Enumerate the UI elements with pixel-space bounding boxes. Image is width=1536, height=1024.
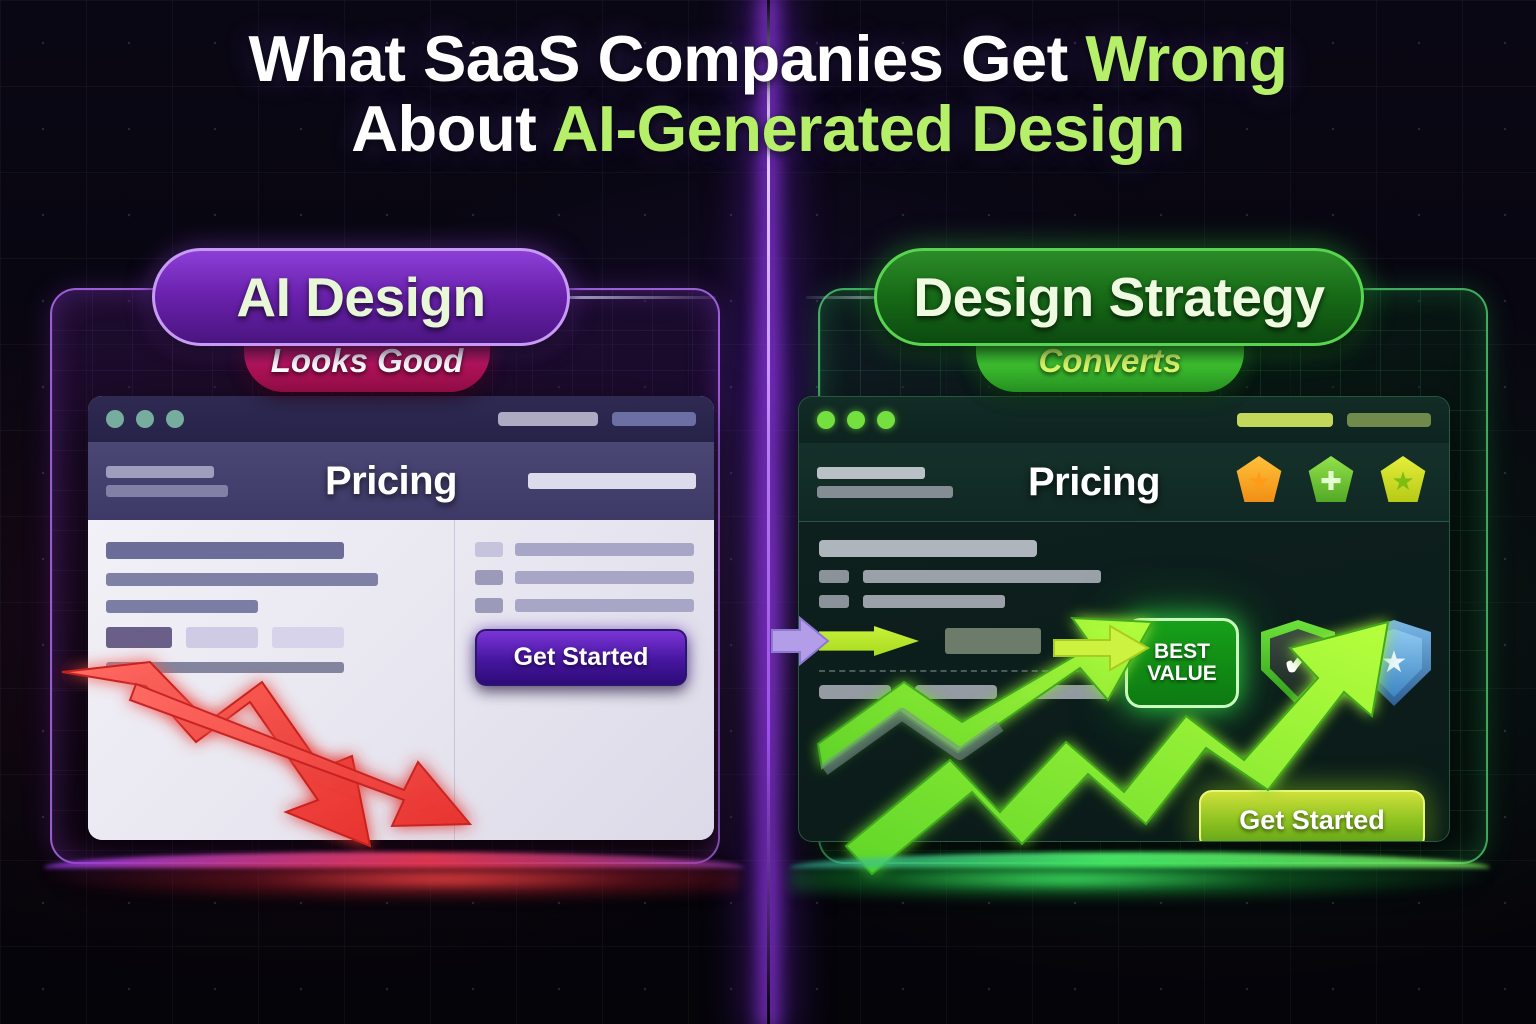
left-get-started-label: Get Started [514,643,649,672]
plus-icon: ✚ [1320,468,1342,494]
left-mockup-body: Get Started [88,520,714,840]
right-mockup-titlebar-bars [1237,413,1431,427]
shield-inner: ★ [1366,629,1422,697]
placeholder-bar [863,595,1005,608]
left-browser-mockup: Pricing [88,396,714,840]
header-bar [106,485,228,497]
titlebar-bar [1347,413,1431,427]
titlebar-bar [1237,413,1333,427]
left-mockup-titlebar-bars [498,412,696,426]
placeholder-bar [819,540,1037,557]
placeholder-bar [106,542,344,559]
check-shield-green-icon: ✔ [1261,620,1335,706]
footer-pill [819,685,891,699]
list-item [819,595,1429,608]
left-mockup-left-column [88,520,454,840]
bullet-square-icon [475,542,503,557]
placeholder-bar [106,662,344,673]
highlight-marker-icon [819,626,919,656]
left-mockup-header-bars [106,466,256,497]
section-divider [819,670,1139,673]
header-bar [106,466,214,478]
left-title-pill: AI Design [152,248,570,346]
window-minimize-dot-icon[interactable] [847,411,865,429]
placeholder-bar [515,571,694,584]
left-get-started-button[interactable]: Get Started [475,629,687,686]
footer-pill [915,685,997,699]
window-maximize-dot-icon[interactable] [166,410,184,428]
header-bar [528,473,696,489]
star-icon: ★ [1391,468,1414,494]
star-badge-lime-icon: ★ [1377,456,1429,506]
trust-badge-row: BEST VALUE ✔ ★ [1125,618,1431,708]
best-value-line1: BEST [1154,641,1210,663]
right-mockup-body: ★ ✚ ★ [799,522,1449,842]
header-bar [817,486,953,498]
list-item [475,570,694,585]
best-value-badge: BEST VALUE [1125,618,1239,708]
headline-line2-green: AI-Generated Design [551,92,1184,165]
best-value-line2: VALUE [1147,663,1217,685]
header-bar [817,467,925,479]
check-icon: ✔ [1283,645,1313,681]
placeholder-bar [945,628,1041,654]
right-browser-mockup: Pricing ★ ✚ ★ [798,396,1450,842]
right-get-started-button[interactable]: Get Started [1199,790,1425,842]
list-item [475,542,694,557]
left-mockup-chip-row [106,627,436,648]
titlebar-bar [612,412,696,426]
right-get-started-label: Get Started [1239,805,1385,836]
headline-line1-white: What SaaS Companies Get [249,22,1086,95]
placeholder-bar [863,570,1101,583]
window-minimize-dot-icon[interactable] [136,410,154,428]
left-mockup-header: Pricing [88,442,714,520]
right-title-pill-label: Design Strategy [913,265,1324,329]
bullet-square-icon [475,598,503,613]
connector-line-left [556,296,716,299]
star-icon: ★ [1381,648,1408,678]
right-title-pill: Design Strategy [874,248,1364,346]
bullet-square-icon [819,595,849,608]
left-mockup-header-right [526,473,696,489]
left-title-pill-label: AI Design [236,265,485,329]
star-badge-orange-icon: ★ [1233,456,1285,506]
window-maximize-dot-icon[interactable] [877,411,895,429]
placeholder-bar [515,543,694,556]
shield-inner: ✔ [1270,629,1326,697]
left-sub-badge-label: Looks Good [271,342,464,380]
placeholder-chip [106,627,172,648]
left-mockup-title: Pricing [256,459,526,504]
right-sub-badge-label: Converts [1038,342,1181,380]
window-close-dot-icon[interactable] [817,411,835,429]
infographic-canvas: What SaaS Companies Get Wrong About AI-G… [0,0,1536,1024]
star-icon: ★ [1247,468,1270,494]
headline-line1-green: Wrong [1085,22,1287,95]
footer-pill [1021,685,1109,699]
placeholder-bar [106,600,258,613]
star-badge-green-plus-icon: ✚ [1305,456,1357,506]
page-title: What SaaS Companies Get Wrong About AI-G… [0,24,1536,164]
list-item [475,598,694,613]
left-mockup-right-column: Get Started [454,520,714,840]
left-mockup-titlebar [88,396,714,442]
right-mockup-titlebar [799,397,1449,443]
right-mockup-header-bars [817,467,967,498]
placeholder-bar [515,599,694,612]
placeholder-chip [272,627,344,648]
headline-line2-white: About [351,92,551,165]
placeholder-chip [186,627,258,648]
bullet-square-icon [819,570,849,583]
bullet-square-icon [475,570,503,585]
list-item [819,570,1429,583]
right-mockup-title: Pricing [967,460,1221,505]
star-badge-row: ★ ✚ ★ [1233,456,1429,506]
titlebar-bar [498,412,598,426]
window-close-dot-icon[interactable] [106,410,124,428]
star-shield-blue-icon: ★ [1357,620,1431,706]
placeholder-bar [106,573,378,586]
